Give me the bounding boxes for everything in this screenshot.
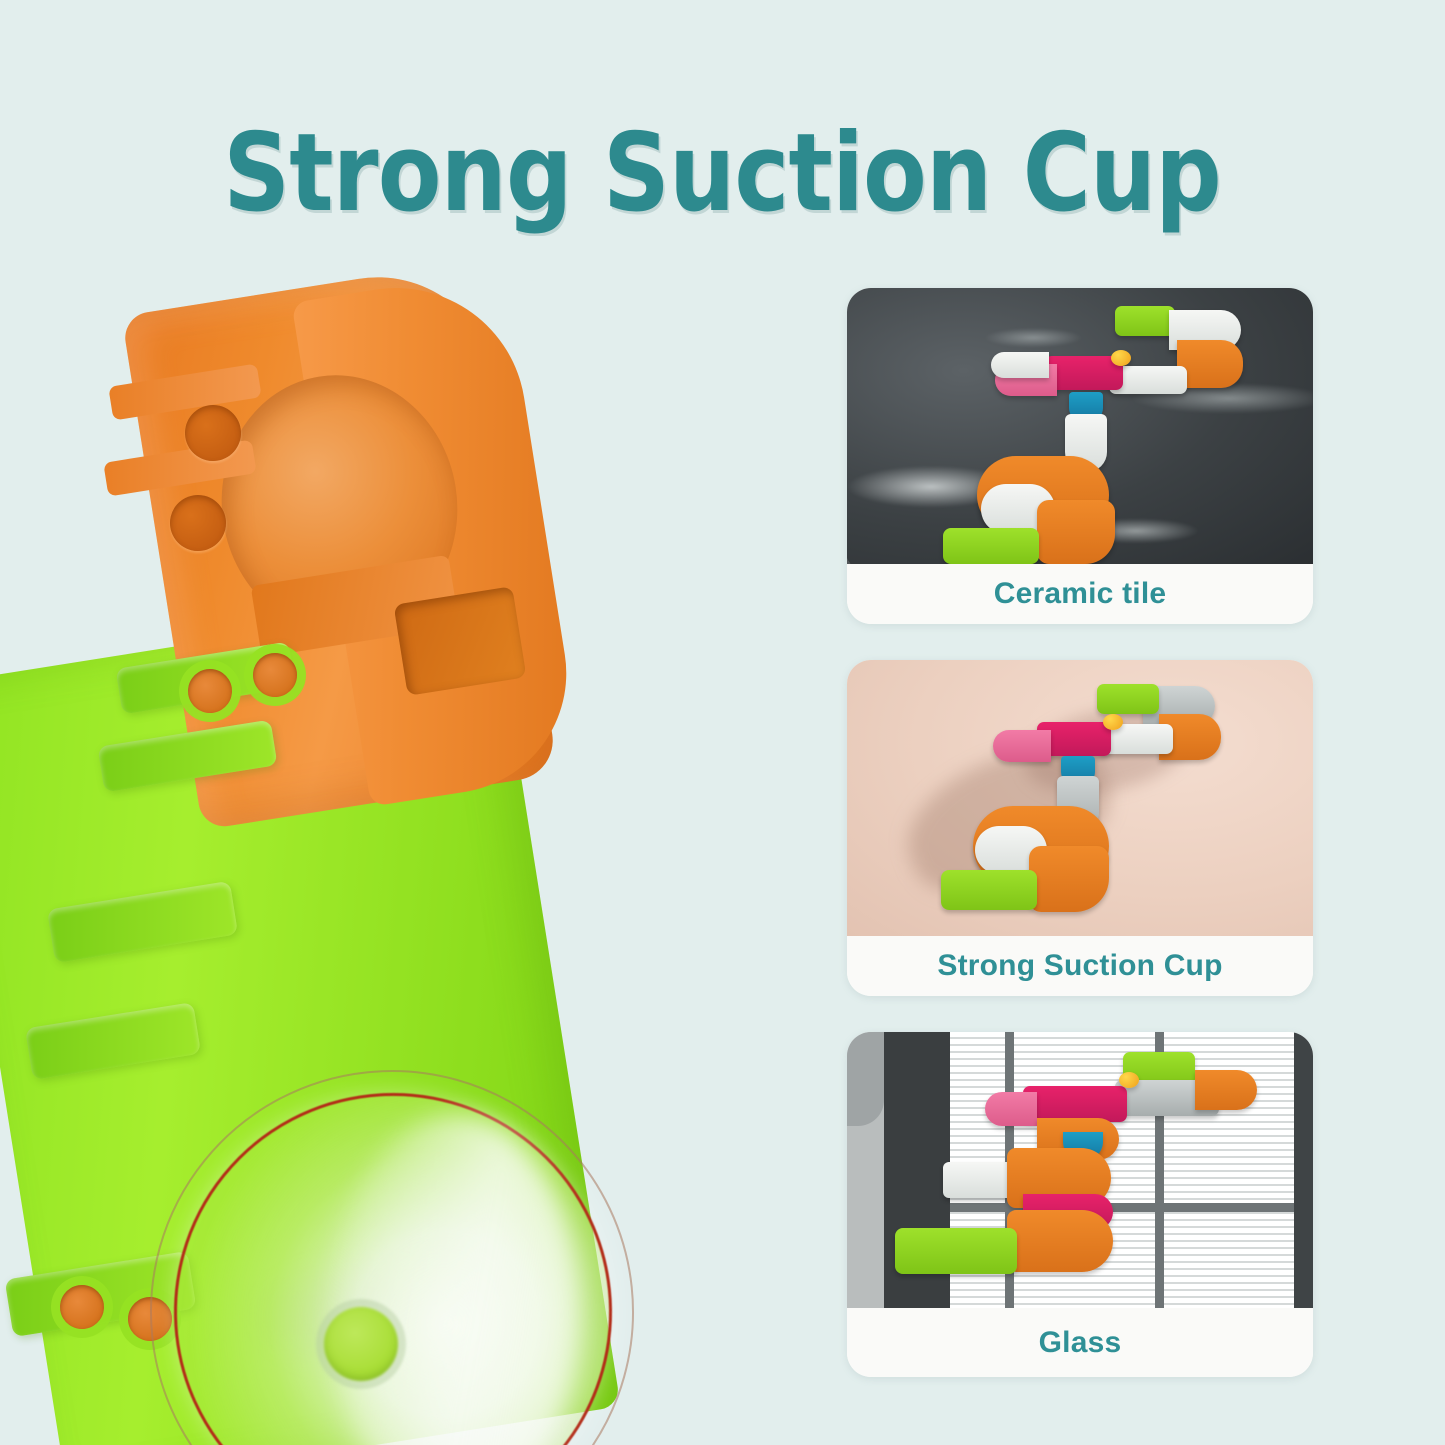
page-title: Strong Suction Cup [224,118,1222,230]
marble-run-toy [847,288,1313,564]
feature-card-glass[interactable]: Glass [847,1032,1313,1377]
card-caption-strong-suction-cup: Strong Suction Cup [847,936,1313,996]
feature-card-ceramic-tile[interactable]: Ceramic tile [847,288,1313,624]
spiral-orange-lower [1037,500,1115,564]
spiral-orange-lower [1007,1210,1113,1272]
card-caption-ceramic-tile: Ceramic tile [847,564,1313,624]
marble-run-toy [847,1032,1313,1308]
track-piece-orange [1195,1070,1257,1110]
track-piece-pink [1023,1086,1127,1122]
track-piece-green-base [941,870,1037,910]
track-piece-green-base [895,1228,1017,1274]
feature-card-strong-suction-cup[interactable]: Strong Suction Cup [847,660,1313,996]
track-piece-white [991,352,1049,378]
marble-ball [1111,350,1131,366]
marble-ball [1119,1072,1139,1088]
title-bar: Strong Suction Cup [0,118,1445,230]
hero-suction-cup-closeup [0,255,700,1445]
track-piece-green [1115,306,1175,336]
hero-stage [0,255,700,1445]
card-caption-glass: Glass [847,1308,1313,1377]
spiral-orange-lower [1029,846,1109,912]
orange-slot [394,586,527,696]
track-piece-green-base [943,528,1039,564]
track-piece-green [1097,684,1159,714]
card-photo-glass [847,1032,1313,1308]
suction-cup-center-nub [324,1307,398,1381]
track-piece-light-pink [985,1092,1037,1126]
track-piece-light-pink [993,730,1051,762]
marble-ball [1103,714,1123,730]
marble-run-toy [847,660,1313,936]
card-photo-strong-suction-cup [847,660,1313,936]
card-photo-ceramic-tile [847,288,1313,564]
product-feature-graphic: Strong Suction Cup [0,0,1445,1445]
